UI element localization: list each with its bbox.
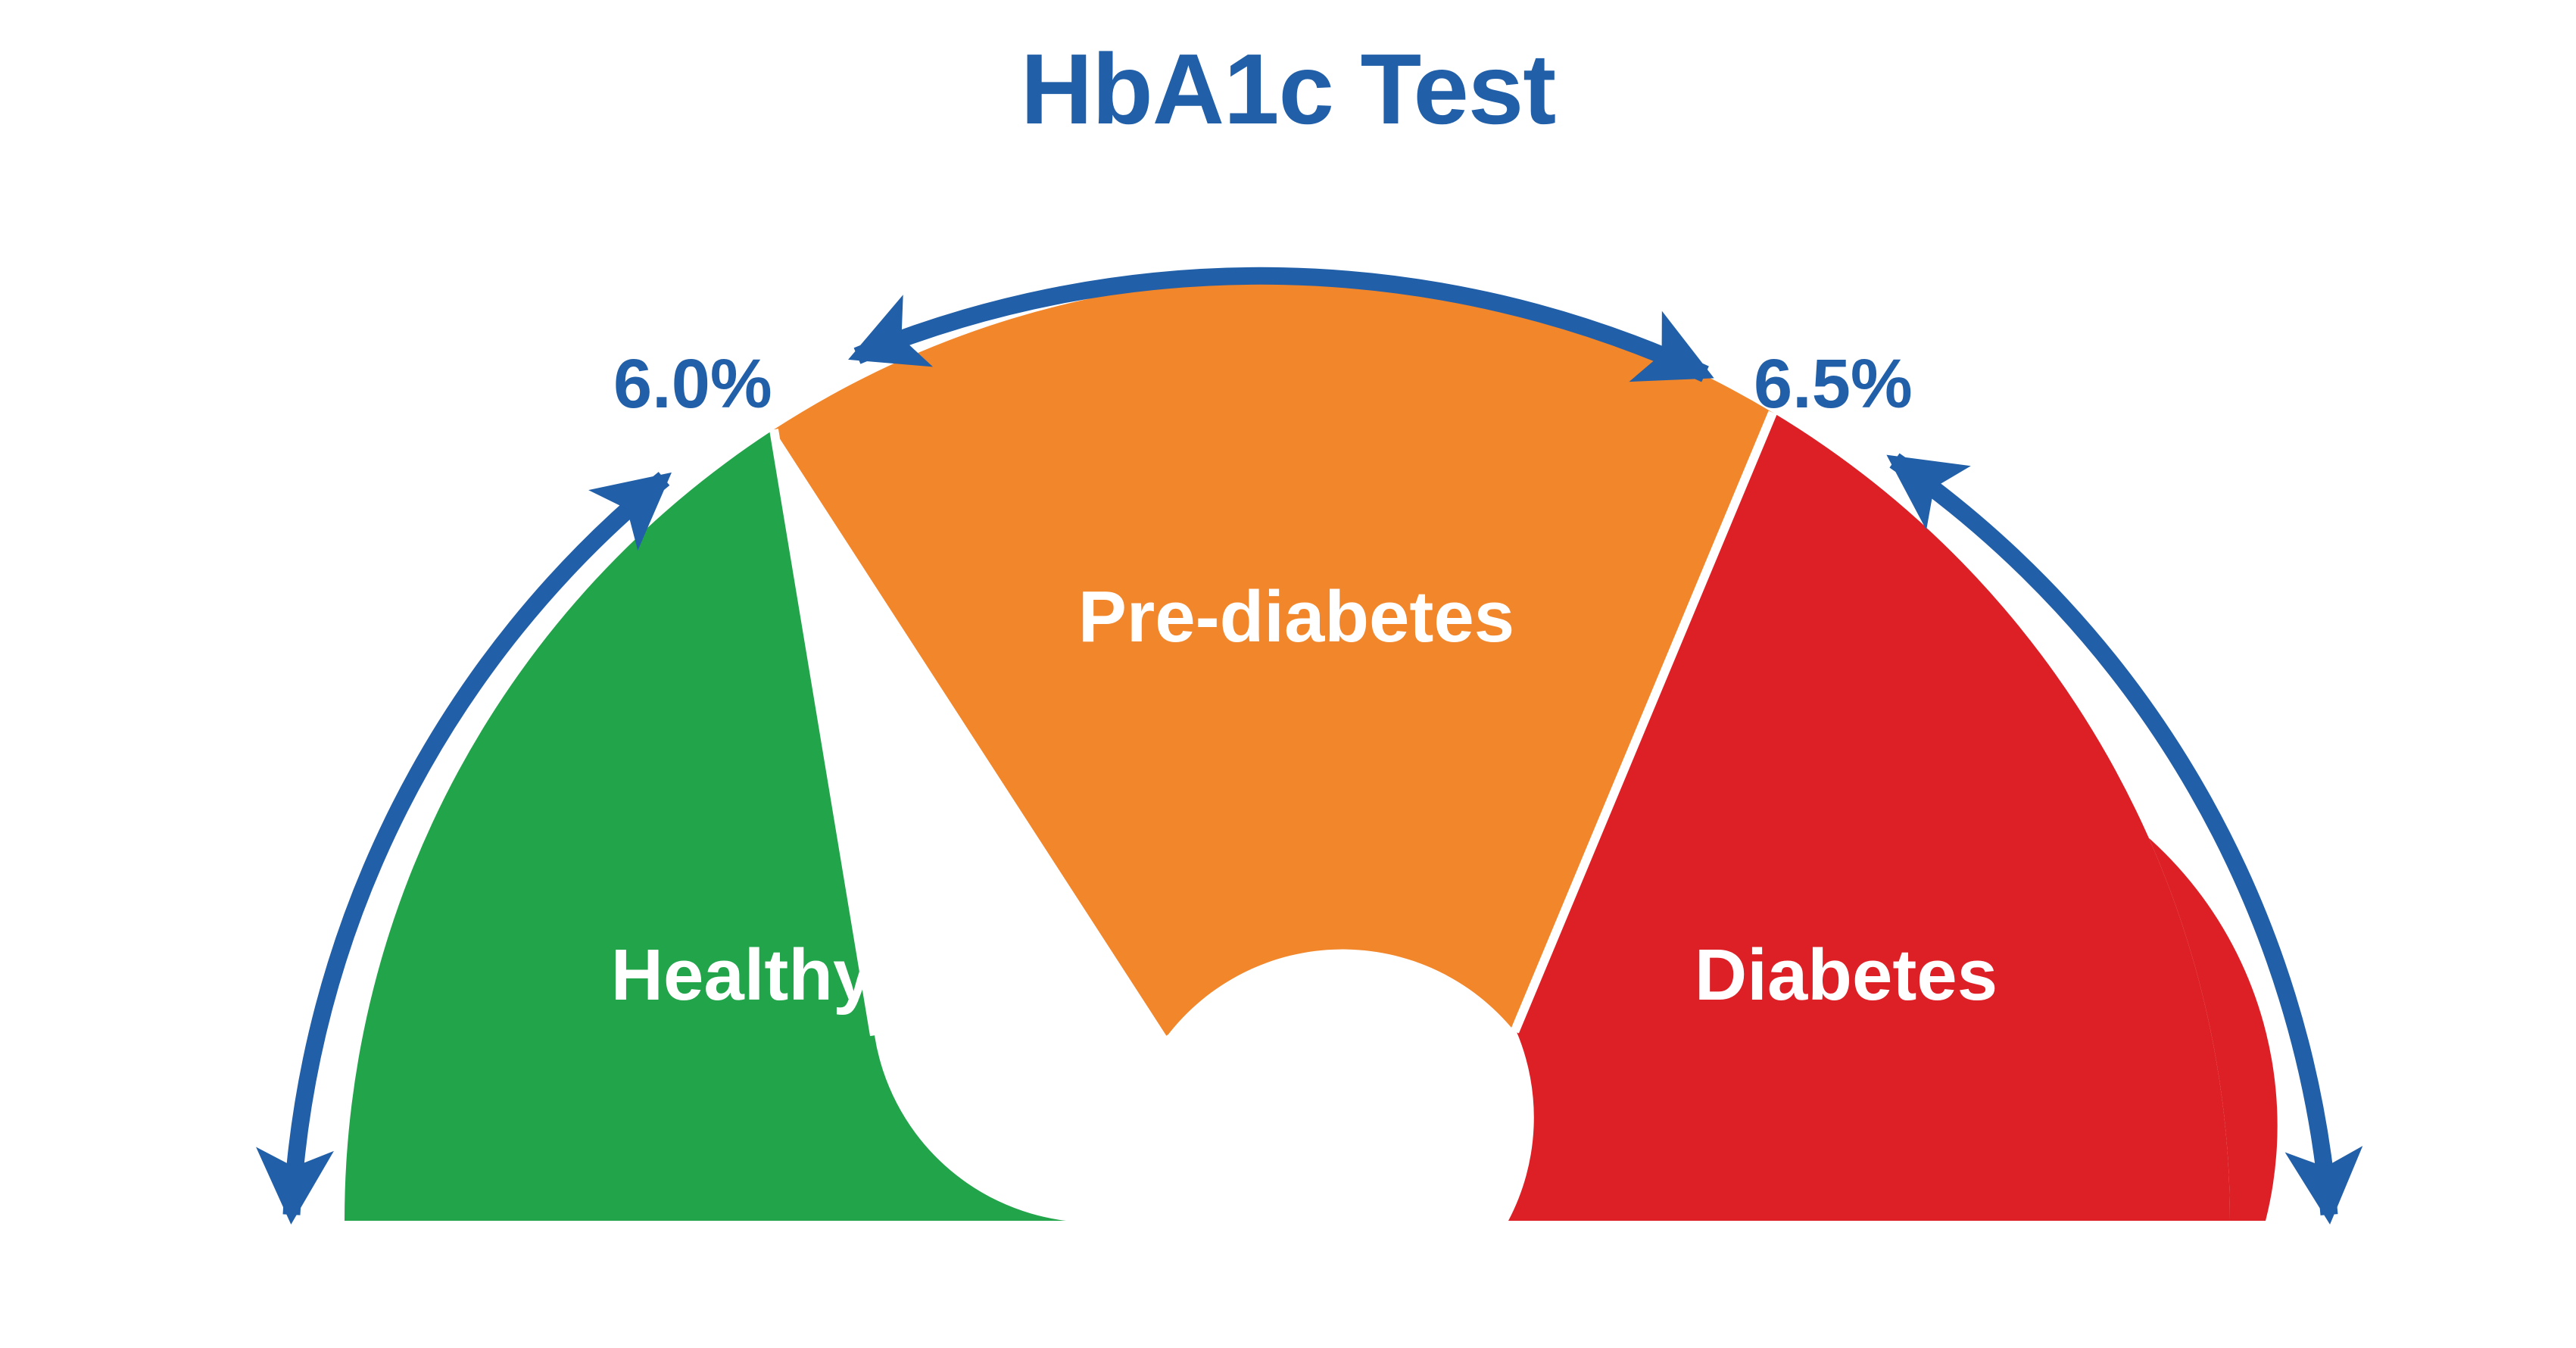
segment-label-prediabetes: Pre-diabetes xyxy=(1078,576,1514,659)
segment-label-diabetes: Diabetes xyxy=(1695,934,1997,1017)
gauge-baseline-mask xyxy=(0,1221,2576,1348)
segment-label-healthy: Healthy xyxy=(611,934,874,1017)
threshold-label-low: 6.0% xyxy=(613,345,772,424)
gauge-chart-canvas: HbA1c Test 6.0% 6.5% Healthy Pre-diabete… xyxy=(0,0,2576,1348)
threshold-label-high: 6.5% xyxy=(1754,345,1913,424)
gauge-graphic xyxy=(0,0,2576,1348)
page-title: HbA1c Test xyxy=(0,32,2576,146)
